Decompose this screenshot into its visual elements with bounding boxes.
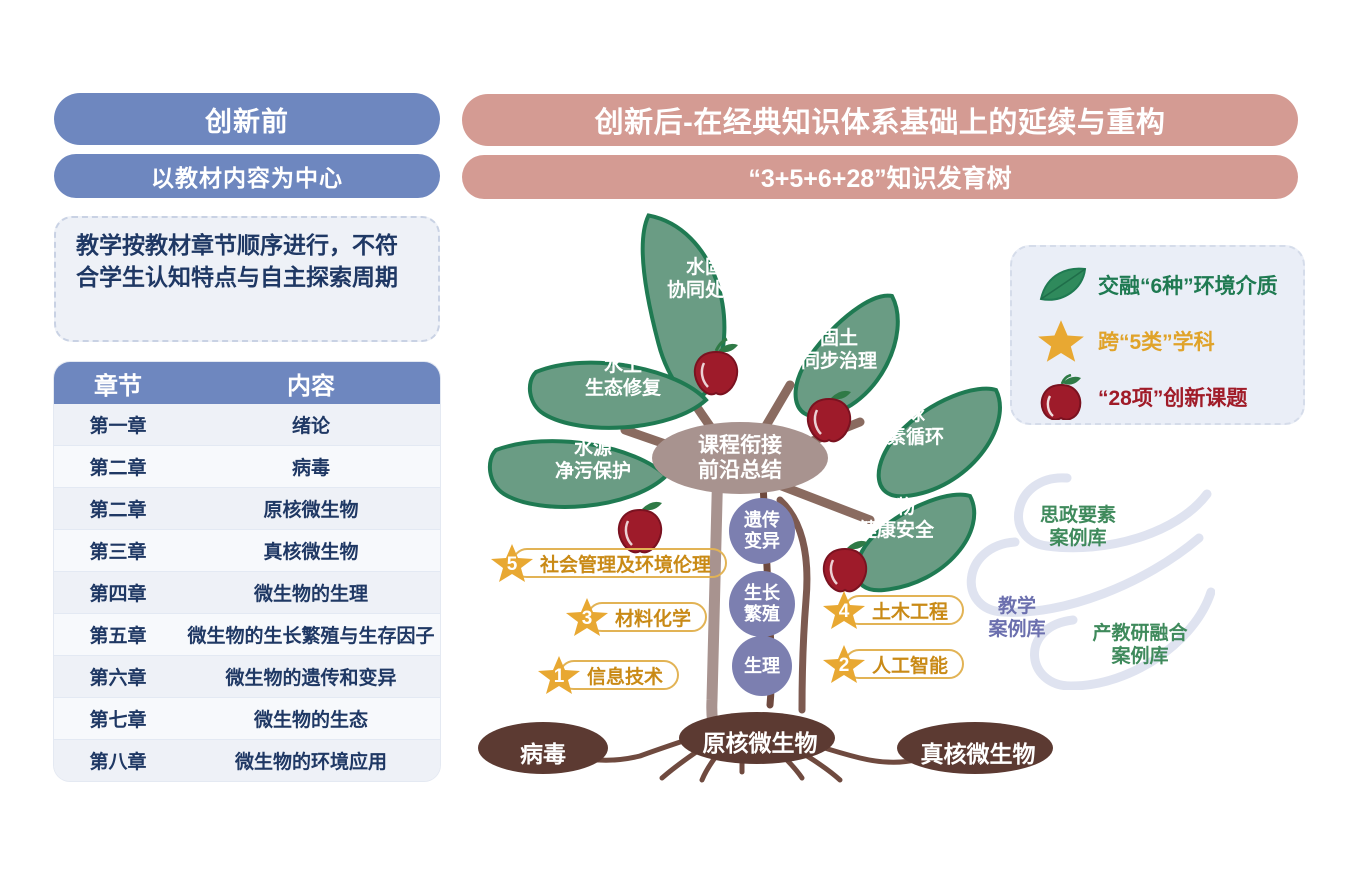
table-row[interactable]: 第五章微生物的生长繁殖与生存因子: [54, 614, 440, 656]
legend-item-star: 跨“5类”学科: [1012, 313, 1303, 369]
node-label-3: 生理: [726, 656, 798, 677]
star-number-5: 5: [490, 542, 534, 584]
table-cell-chapter: 第五章: [54, 621, 182, 648]
cloud-label-1: 思政要素 案例库: [1018, 504, 1138, 550]
star-number-2: 2: [822, 643, 866, 685]
cloud-label-3-line2: 案例库: [1076, 645, 1204, 668]
node-label-2-line2: 繁殖: [726, 604, 798, 625]
star-item-1[interactable]: 1 信息技术: [537, 659, 679, 691]
table-row[interactable]: 第二章病毒: [54, 446, 440, 488]
star-number-3: 3: [565, 596, 609, 638]
legend-label-apple: “28项”创新课题: [1098, 382, 1247, 412]
star-number-1: 1: [537, 654, 581, 696]
table-header-content: 内容: [182, 366, 440, 401]
table-header-row: 章节 内容: [54, 362, 440, 404]
cloud-label-2: 教学 案例库: [967, 595, 1067, 641]
table-cell-content: 微生物的环境应用: [182, 747, 440, 774]
star-item-2[interactable]: 2 人工智能: [822, 648, 964, 680]
legend-label-leaf: 交融“6种”环境介质: [1098, 270, 1278, 300]
table-row[interactable]: 第一章绪论: [54, 404, 440, 446]
banner-after-innovation: 创新后-在经典知识体系基础上的延续与重构: [462, 94, 1298, 146]
node-label-2: 生长 繁殖: [726, 583, 798, 624]
node-label-2-line1: 生长: [726, 583, 798, 604]
star-item-4[interactable]: 4 土木工程: [822, 594, 964, 626]
cloud-label-1-line1: 思政要素: [1018, 504, 1138, 527]
table-cell-content: 微生物的生态: [182, 705, 440, 732]
table-cell-chapter: 第六章: [54, 663, 182, 690]
note-text: 教学按教材章节顺序进行，不符合学生认知特点与自主探索周期: [76, 232, 398, 290]
star-icon-5: 5: [490, 542, 534, 584]
table-body: 第一章绪论第二章病毒第二章原核微生物第三章真核微生物第四章微生物的生理第五章微生…: [54, 404, 440, 781]
table-cell-content: 绪论: [182, 411, 440, 438]
legend-label-star: 跨“5类”学科: [1098, 326, 1215, 356]
star-item-3[interactable]: 3 材料化学: [565, 601, 707, 633]
chapter-table: 章节 内容 第一章绪论第二章病毒第二章原核微生物第三章真核微生物第四章微生物的生…: [54, 362, 440, 781]
banner-knowledge-tree: “3+5+6+28”知识发育树: [462, 155, 1298, 199]
table-cell-chapter: 第三章: [54, 537, 182, 564]
leaf-shape-3: [796, 296, 898, 417]
hub-label-line1: 课程衔接: [684, 434, 796, 459]
table-cell-chapter: 第七章: [54, 705, 182, 732]
star-icon-2: 2: [822, 643, 866, 685]
cloud-label-2-line1: 教学: [967, 595, 1067, 618]
table-row[interactable]: 第二章原核微生物: [54, 488, 440, 530]
table-cell-content: 微生物的生长繁殖与生存因子: [182, 621, 440, 648]
node-label-1: 遗传 变异: [726, 510, 798, 551]
table-cell-content: 真核微生物: [182, 537, 440, 564]
node-label-3-line1: 生理: [726, 656, 798, 677]
banner-sub-label: 以教材内容为中心: [151, 159, 343, 193]
star-icon-3: 3: [565, 596, 609, 638]
legend-item-leaf: 交融“6种”环境介质: [1012, 257, 1303, 313]
table-cell-content: 原核微生物: [182, 495, 440, 522]
apple-4: [824, 541, 867, 591]
banner-before-label: 创新前: [205, 100, 289, 139]
banner-tree-label: “3+5+6+28”知识发育树: [748, 159, 1011, 195]
table-row[interactable]: 第六章微生物的遗传和变异: [54, 656, 440, 698]
leaf-shape-4: [490, 441, 666, 507]
node-label-1-line1: 遗传: [726, 510, 798, 531]
cloud-label-3: 产教研融合 案例库: [1076, 622, 1204, 668]
cloud-label-2-line2: 案例库: [967, 618, 1067, 641]
table-cell-content: 微生物的遗传和变异: [182, 663, 440, 690]
star-icon-4: 4: [822, 589, 866, 631]
root-label-1: 病毒: [483, 735, 603, 769]
hub-label: 课程衔接 前沿总结: [684, 434, 796, 484]
banner-before-innovation: 创新前: [54, 93, 440, 145]
legend-item-apple: “28项”创新课题: [1012, 369, 1303, 425]
root-label-3: 真核微生物: [900, 735, 1056, 769]
table-cell-chapter: 第二章: [54, 453, 182, 480]
note-box-problem: 教学按教材章节顺序进行，不符合学生认知特点与自主探索周期: [54, 216, 440, 342]
banner-textbook-centered: 以教材内容为中心: [54, 154, 440, 198]
banner-after-label: 创新后-在经典知识体系基础上的延续与重构: [595, 99, 1166, 141]
table-cell-chapter: 第二章: [54, 495, 182, 522]
legend-box: 交融“6种”环境介质 跨“5类”学科 “28项”创新课题: [1010, 245, 1305, 425]
star-item-5[interactable]: 5 社会管理及环境伦理: [490, 547, 727, 579]
hub-label-line2: 前沿总结: [684, 459, 796, 484]
table-row[interactable]: 第四章微生物的生理: [54, 572, 440, 614]
star-number-4: 4: [822, 589, 866, 631]
table-cell-chapter: 第四章: [54, 579, 182, 606]
apple-icon: [1030, 374, 1092, 420]
table-row[interactable]: 第七章微生物的生态: [54, 698, 440, 740]
node-label-1-line2: 变异: [726, 531, 798, 552]
table-cell-chapter: 第一章: [54, 411, 182, 438]
root-label-2: 原核微生物: [682, 724, 838, 758]
star-icon-1: 1: [537, 654, 581, 696]
infographic-canvas: 创新前 以教材内容为中心 教学按教材章节顺序进行，不符合学生认知特点与自主探索周…: [0, 0, 1347, 876]
apple-3: [619, 502, 662, 552]
table-row[interactable]: 第三章真核微生物: [54, 530, 440, 572]
star-label-5: 社会管理及环境伦理: [512, 548, 727, 578]
table-cell-content: 微生物的生理: [182, 579, 440, 606]
leaf-icon: [1030, 265, 1092, 305]
table-row[interactable]: 第八章微生物的环境应用: [54, 740, 440, 781]
cloud-label-3-line1: 产教研融合: [1076, 622, 1204, 645]
star-icon: [1030, 318, 1092, 364]
table-cell-chapter: 第八章: [54, 747, 182, 774]
table-header-chapter: 章节: [54, 366, 182, 401]
cloud-label-1-line2: 案例库: [1018, 527, 1138, 550]
table-cell-content: 病毒: [182, 453, 440, 480]
